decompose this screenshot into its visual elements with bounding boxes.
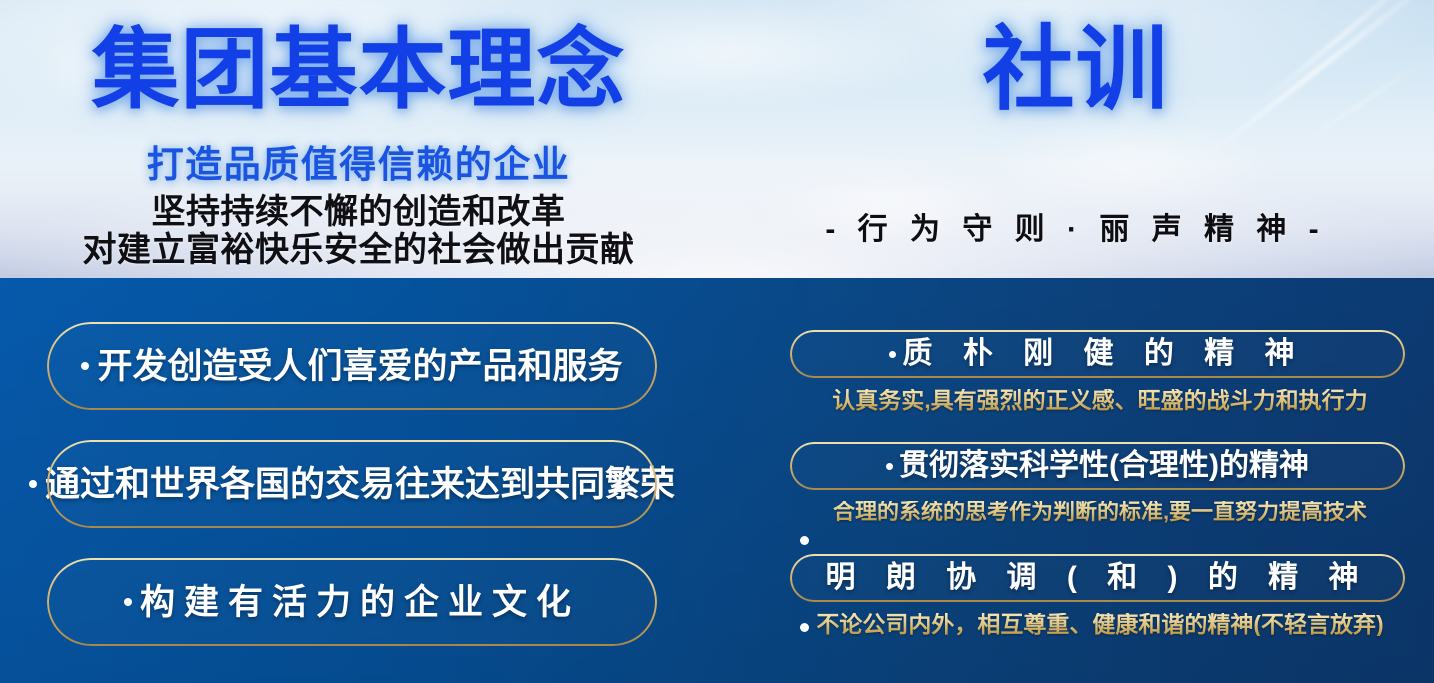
list-item-label: 构建有活力的企业文化 xyxy=(140,585,580,620)
list-item[interactable]: 开发创造受人们喜爱的产品和服务 xyxy=(47,322,657,410)
left-subtitle-blue: 打造品质值得信赖的企业 xyxy=(0,134,717,188)
right-subtitle: - 行 为 守 则 · 丽 声 精 神 - xyxy=(717,204,1434,248)
list-item-label: 贯彻落实科学性(合理性)的精神 xyxy=(899,451,1309,481)
left-subtitle-line-2: 对建立富裕快乐安全的社会做出贡献 xyxy=(0,222,717,271)
list-item[interactable]: 明 朗 协 调 ( 和 ) 的 精 神 xyxy=(790,554,1405,602)
list-item-label: 明 朗 协 调 ( 和 ) 的 精 神 xyxy=(826,563,1370,593)
poster-root: 集团基本理念 打造品质值得信赖的企业 坚持持续不懈的创造和改革 对建立富裕快乐安… xyxy=(0,0,1434,683)
pill-content: 明 朗 协 调 ( 和 ) 的 精 神 xyxy=(812,563,1384,593)
pill-content: 贯彻落实科学性(合理性)的精神 xyxy=(872,451,1323,481)
bullet-dot-icon xyxy=(886,463,893,470)
pill-content: 构建有活力的企业文化 xyxy=(106,585,598,620)
list-item[interactable]: 构建有活力的企业文化 xyxy=(47,558,657,646)
left-header-block: 集团基本理念 打造品质值得信赖的企业 坚持持续不懈的创造和改革 对建立富裕快乐安… xyxy=(0,0,717,278)
bullet-dot-icon xyxy=(800,536,809,545)
list-item-label: 通过和世界各国的交易往来达到共同繁荣 xyxy=(45,467,675,502)
list-item[interactable]: 贯彻落实科学性(合理性)的精神 xyxy=(790,442,1405,490)
bullet-dot-icon xyxy=(81,362,89,370)
list-item-caption: 认真务实,具有强烈的正义感、旺盛的战斗力和执行力 xyxy=(780,389,1420,412)
bullet-dot-icon xyxy=(124,598,132,606)
left-page-title: 集团基本理念 xyxy=(0,26,717,114)
pill-content: 质 朴 刚 健 的 精 神 xyxy=(875,339,1319,369)
list-item[interactable]: 通过和世界各国的交易往来达到共同繁荣 xyxy=(47,440,657,528)
right-page-title: 社训 xyxy=(717,24,1434,116)
list-item-caption: 不论公司内外，相互尊重、健康和谐的精神(不轻言放弃) xyxy=(780,613,1420,636)
list-item[interactable]: 质 朴 刚 健 的 精 神 xyxy=(790,330,1405,378)
list-item-label: 开发创造受人们喜爱的产品和服务 xyxy=(97,349,622,384)
pill-content: 开发创造受人们喜爱的产品和服务 xyxy=(63,349,640,384)
bullet-dot-icon xyxy=(889,351,896,358)
right-header-block: 社训 - 行 为 守 则 · 丽 声 精 神 - xyxy=(717,0,1434,278)
list-item-caption: 合理的系统的思考作为判断的标准,要一直努力提高技术 xyxy=(780,501,1420,523)
bullet-dot-icon xyxy=(29,480,37,488)
pill-content: 通过和世界各国的交易往来达到共同繁荣 xyxy=(11,467,693,502)
list-item-label: 质 朴 刚 健 的 精 神 xyxy=(902,339,1305,369)
